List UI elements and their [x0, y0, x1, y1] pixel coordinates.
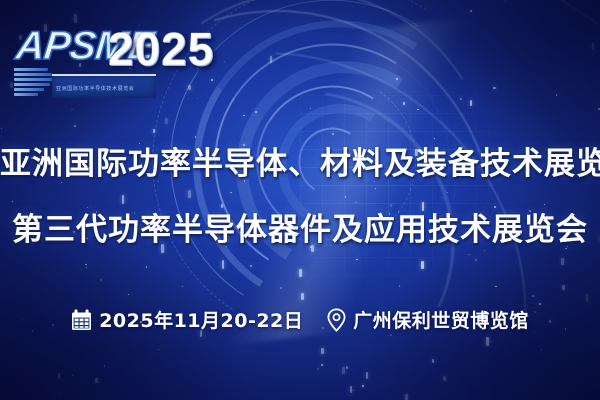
- headline-secondary: 第三代功率半导体器件及应用技术展览会: [0, 204, 600, 249]
- year-label: 2025: [108, 22, 214, 76]
- exhibition-banner: APSME 亚洲国际功率半导体技术展览会 2025 亚洲国际功率半导体、材料及装…: [0, 0, 600, 400]
- location-pin-icon: [327, 308, 346, 332]
- event-venue-item: 广州保利世贸博览馆: [327, 306, 529, 333]
- event-date-item: 2025年11月20-22日: [71, 306, 303, 333]
- calendar-icon: [71, 309, 92, 331]
- logo-stripe-bars: [14, 68, 56, 96]
- logo-tagline-text: 亚洲国际功率半导体技术展览会: [56, 85, 154, 92]
- headline-primary: 亚洲国际功率半导体、材料及装备技术展览会: [0, 138, 600, 183]
- event-date-text: 2025年11月20-22日: [99, 306, 303, 333]
- event-info-row: 2025年11月20-22日 广州保利世贸博览馆: [0, 306, 600, 333]
- event-venue-text: 广州保利世贸博览馆: [353, 306, 529, 333]
